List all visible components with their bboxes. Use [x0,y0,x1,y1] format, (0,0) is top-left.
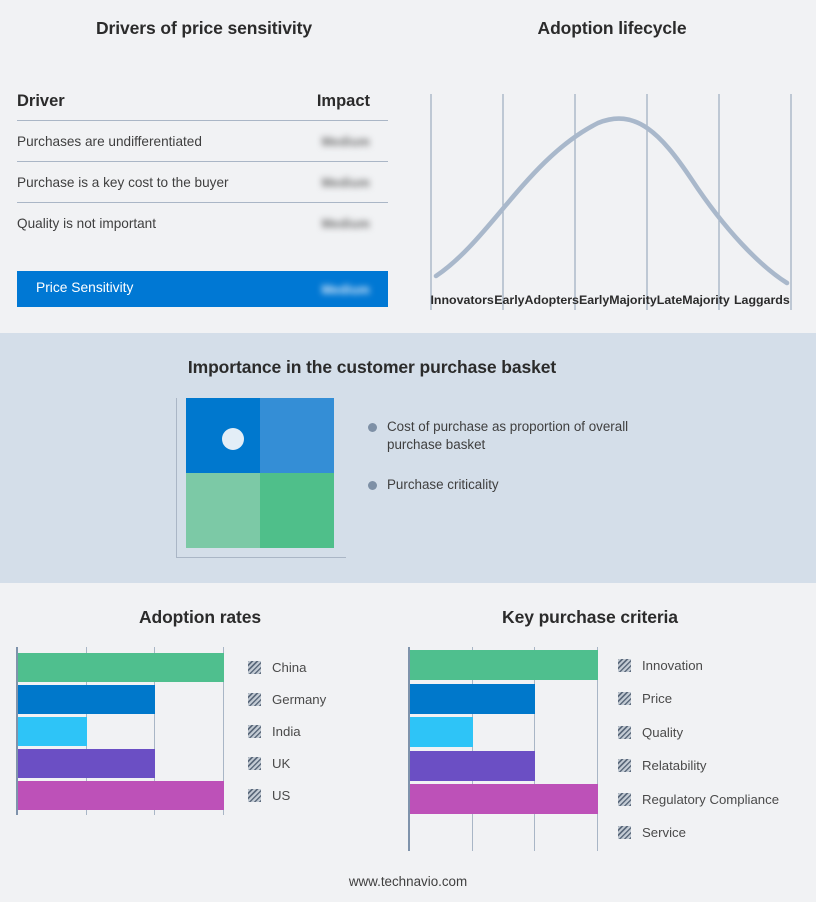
chart-bar [410,717,473,747]
legend-label: China [272,660,306,675]
importance-panel: Importance in the customer purchase bask… [0,333,816,583]
legend-label: Germany [272,692,326,707]
footer-url: www.technavio.com [0,874,816,889]
lifecycle-chart: Innovators EarlyAdopters EarlyMajority L… [430,80,794,310]
chart-bar [18,653,224,682]
legend-swatch-icon [248,725,261,738]
price-sensitivity-label: Price Sensitivity [36,280,133,295]
chart-bar [18,717,87,746]
chart-bar-row [410,649,598,683]
legend-item: Innovation [618,649,779,683]
quadrant-cell-top-right [260,398,334,473]
importance-panel-title: Importance in the customer purchase bask… [0,357,744,378]
chart-bar [410,784,598,814]
table-header-row: Driver Impact [17,92,388,121]
quadrant-chart [176,398,348,566]
legend-swatch-icon [618,659,631,672]
legend-item: India [248,715,326,747]
redacted-impact-value: Medium [322,135,370,149]
list-item: Purchase criticality [368,476,668,494]
quadrant-position-marker [222,428,244,450]
bullet-dot-icon [368,481,377,490]
legend-swatch-icon [618,759,631,772]
chart-bar-row [410,816,598,850]
legend-item: UK [248,747,326,779]
legend-label: Relatability [642,758,707,773]
driver-cell: Purchase is a key cost to the buyer [17,162,295,203]
legend-swatch-icon [248,693,261,706]
quadrant-legend-label: Cost of purchase as proportion of overal… [387,418,668,454]
price-sensitivity-summary-row: Price Sensitivity Medium [17,271,388,307]
lifecycle-segment-early-adopters: EarlyAdopters [494,264,579,308]
chart-bar-row [18,683,224,715]
legend-item: Price [618,682,779,716]
purchase-criteria-panel: Key purchase criteria InnovationPriceQua… [400,583,816,873]
redacted-impact-value: Medium [322,217,370,231]
redacted-impact-value: Medium [322,176,370,190]
quadrant-legend-label: Purchase criticality [387,476,499,494]
drivers-table: Driver Impact Purchases are undifferenti… [17,92,388,243]
driver-cell: Purchases are undifferentiated [17,121,295,162]
legend-label: Regulatory Compliance [642,792,779,807]
chart-bar [410,684,535,714]
column-header-impact: Impact [295,92,388,121]
legend-label: Service [642,825,686,840]
legend-item: US [248,779,326,811]
legend-item: Service [618,816,779,850]
lifecycle-segment-innovators: Innovators [430,264,494,308]
legend-item: Germany [248,683,326,715]
purchase-criteria-chart: InnovationPriceQualityRelatabilityRegula… [408,647,779,851]
legend-swatch-icon [618,793,631,806]
chart-bar [410,650,598,680]
chart-bar [410,751,535,781]
chart-bar-row [410,716,598,750]
legend-label: US [272,788,290,803]
lifecycle-segment-labels: Innovators EarlyAdopters EarlyMajority L… [430,264,794,308]
column-header-driver: Driver [17,92,295,121]
quadrant-x-axis [176,557,346,558]
table-row: Purchase is a key cost to the buyer Medi… [17,162,388,203]
chart-bar [18,781,224,810]
quadrant-cell-bottom-left [186,473,260,548]
lifecycle-panel-title: Adoption lifecycle [408,18,816,39]
legend-swatch-icon [248,661,261,674]
chart-bar-row [410,682,598,716]
quadrant-legend: Cost of purchase as proportion of overal… [368,418,668,516]
quadrant-y-axis [176,398,177,558]
lifecycle-segment-late-majority: LateMajority [657,264,730,308]
legend-item: Regulatory Compliance [618,783,779,817]
impact-cell: Medium [295,203,388,244]
legend-label: Price [642,691,672,706]
chart-bar [18,749,155,778]
chart-bar-row [18,747,224,779]
legend-item: Quality [618,716,779,750]
chart-bar-row [410,749,598,783]
list-item: Cost of purchase as proportion of overal… [368,418,668,454]
chart-bar [18,685,155,714]
legend-swatch-icon [618,692,631,705]
lifecycle-panel: Adoption lifecycle Innovators EarlyAdopt… [408,0,816,333]
legend-item: China [248,651,326,683]
chart-bar [410,818,598,848]
legend-swatch-icon [618,726,631,739]
impact-cell: Medium [295,162,388,203]
drivers-panel: Drivers of price sensitivity Driver Impa… [0,0,408,333]
chart-bar-rows [410,647,598,851]
driver-cell: Quality is not important [17,203,295,244]
drivers-panel-title: Drivers of price sensitivity [0,18,408,39]
lifecycle-segment-early-majority: EarlyMajority [579,264,657,308]
quadrant-cell-bottom-right [260,473,334,548]
purchase-criteria-plot [408,647,598,851]
table-row: Purchases are undifferentiated Medium [17,121,388,162]
legend-label: UK [272,756,290,771]
purchase-criteria-legend: InnovationPriceQualityRelatabilityRegula… [618,647,779,851]
legend-swatch-icon [248,789,261,802]
adoption-rates-plot [16,647,224,815]
legend-swatch-icon [248,757,261,770]
chart-bar-row [410,783,598,817]
chart-bar-row [18,715,224,747]
redacted-impact-value: Medium [322,283,370,297]
legend-label: Quality [642,725,683,740]
bullet-dot-icon [368,423,377,432]
adoption-rates-legend: ChinaGermanyIndiaUKUS [248,647,326,815]
purchase-criteria-title: Key purchase criteria [400,607,780,628]
table-row: Quality is not important Medium [17,203,388,244]
price-sensitivity-impact: Medium [322,281,370,299]
legend-item: Relatability [618,749,779,783]
impact-cell: Medium [295,121,388,162]
lifecycle-bell-curve [436,119,787,283]
lifecycle-segment-laggards: Laggards [730,264,794,308]
chart-bar-row [18,651,224,683]
chart-bar-rows [18,647,224,815]
adoption-rates-title: Adoption rates [0,607,400,628]
adoption-rates-panel: Adoption rates ChinaGermanyIndiaUKUS [0,583,400,873]
adoption-rates-chart: ChinaGermanyIndiaUKUS [16,647,326,815]
legend-label: Innovation [642,658,703,673]
quadrant-grid [186,398,334,548]
chart-bar-row [18,779,224,811]
legend-swatch-icon [618,826,631,839]
legend-label: India [272,724,301,739]
